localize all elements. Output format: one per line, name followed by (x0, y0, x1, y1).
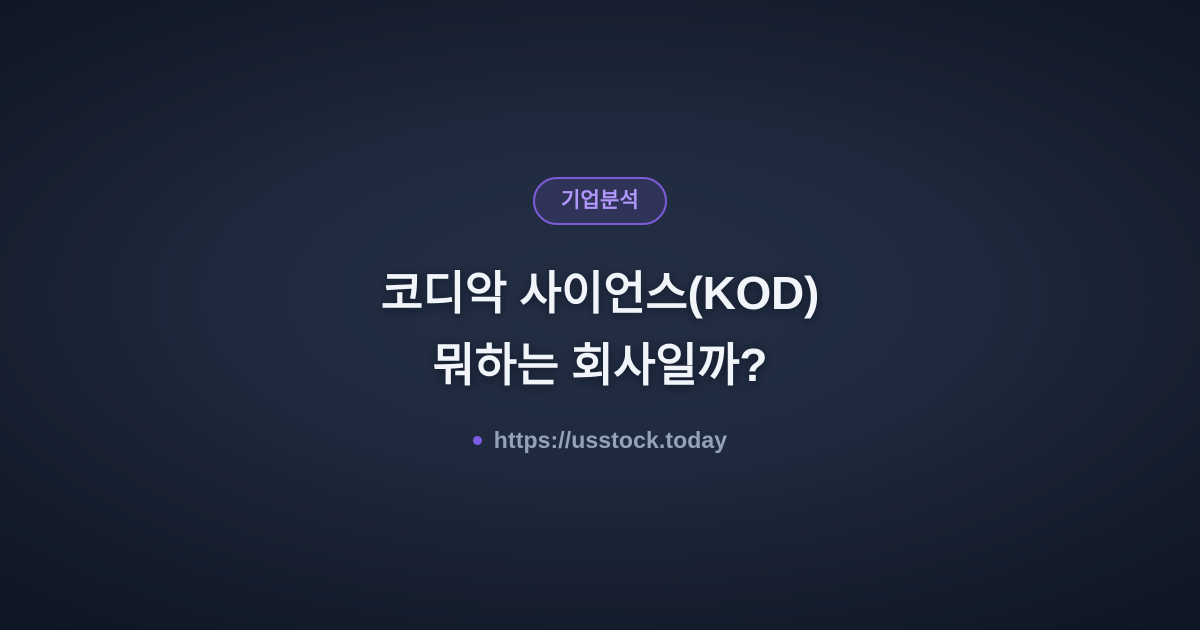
og-share-card: 기업분석 코디악 사이언스(KOD) 뭐하는 회사일까? https://uss… (0, 0, 1200, 630)
bullet-dot-icon (473, 436, 482, 445)
page-title-line-1: 코디악 사이언스(KOD) (381, 257, 819, 329)
site-url-row: https://usstock.today (473, 427, 727, 454)
page-title: 코디악 사이언스(KOD) 뭐하는 회사일까? (381, 257, 819, 401)
page-title-line-2: 뭐하는 회사일까? (381, 329, 819, 401)
card-content: 기업분석 코디악 사이언스(KOD) 뭐하는 회사일까? https://uss… (0, 177, 1200, 454)
category-badge: 기업분석 (533, 177, 667, 225)
site-url-text: https://usstock.today (494, 427, 727, 454)
